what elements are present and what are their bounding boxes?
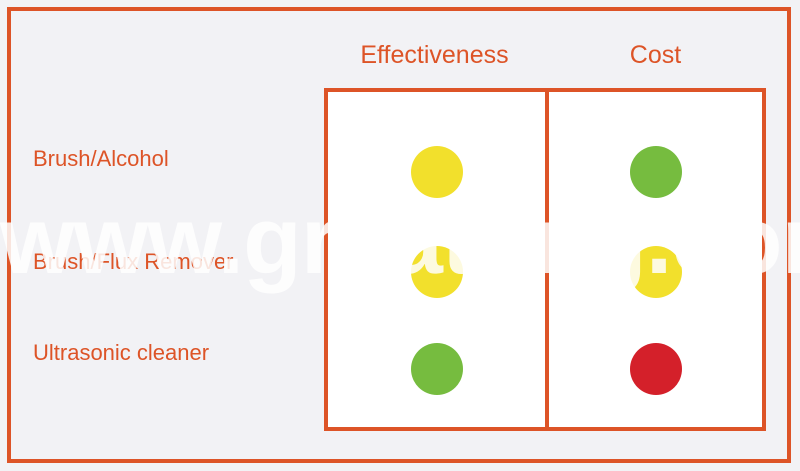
column-header-effectiveness: Effectiveness xyxy=(324,41,545,70)
row-label-ultrasonic-cleaner: Ultrasonic cleaner xyxy=(33,340,209,366)
site-watermark: www.greatong.com xyxy=(0,186,800,296)
rating-dot-cost-ultrasonic-cleaner xyxy=(630,343,682,395)
comparison-matrix-page: www.greatong.com Effectiveness Cost Brus… xyxy=(0,0,800,471)
column-header-cost: Cost xyxy=(545,41,766,70)
row-label-brush-alcohol: Brush/Alcohol xyxy=(33,146,169,172)
rating-dot-effectiveness-ultrasonic-cleaner xyxy=(411,343,463,395)
